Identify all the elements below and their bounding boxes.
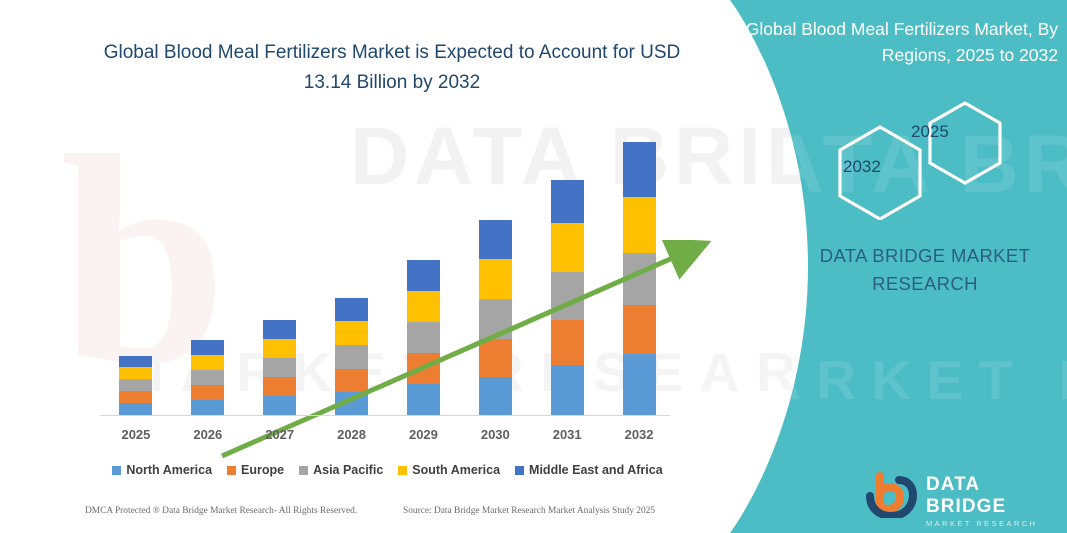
legend-item[interactable]: Europe — [227, 463, 284, 477]
stacked-bar — [407, 260, 440, 415]
panel-title: Global Blood Meal Fertilizers Market, By… — [740, 16, 1058, 68]
logo-subtitle: MARKET RESEARCH — [926, 518, 1056, 529]
x-axis-tick-label: 2025 — [101, 427, 171, 447]
bar-segment — [551, 180, 584, 223]
bar-segment — [119, 367, 152, 379]
bar-segment — [623, 354, 656, 415]
bar-segment — [623, 142, 656, 197]
x-axis-tick-label: 2027 — [245, 427, 315, 447]
legend-swatch-icon — [227, 466, 236, 475]
bar-segment — [407, 384, 440, 415]
logo-text: DATA BRIDGE MARKET RESEARCH — [926, 474, 1056, 529]
legend-label: Middle East and Africa — [529, 463, 663, 477]
bar-segment — [407, 260, 440, 291]
stacked-bar — [551, 180, 584, 415]
hexagon-2025-label: 2025 — [911, 122, 949, 142]
bar-segment — [335, 345, 368, 369]
infographic-canvas: b DATA BRIDGE MARKET RESEARCH Global Blo… — [0, 0, 1067, 533]
legend-item[interactable]: South America — [398, 463, 500, 477]
panel-brand-name: DATA BRIDGE MARKET RESEARCH — [780, 242, 1067, 298]
bar-segment — [263, 377, 296, 396]
footer: DMCA Protected ® Data Bridge Market Rese… — [0, 506, 690, 524]
bar-segment — [623, 305, 656, 354]
bar-segment — [551, 365, 584, 415]
stacked-bar — [335, 298, 368, 415]
hexagon-2032-label: 2032 — [843, 157, 881, 177]
bar-segment — [263, 358, 296, 377]
data-bridge-logo: DATA BRIDGE MARKET RESEARCH — [866, 472, 1056, 520]
x-axis-tick-label: 2026 — [173, 427, 243, 447]
stacked-bar-group — [100, 120, 675, 415]
bar-segment — [191, 340, 224, 355]
bar-segment — [623, 253, 656, 305]
bar-segment — [191, 370, 224, 385]
logo-mark-icon — [866, 472, 922, 518]
bar-segment — [479, 259, 512, 299]
footer-source: Source: Data Bridge Market Research Mark… — [403, 506, 655, 516]
legend-label: Asia Pacific — [313, 463, 383, 477]
stacked-bar — [119, 356, 152, 415]
bar-segment — [119, 403, 152, 415]
legend-label: Europe — [241, 463, 284, 477]
bar-segment — [335, 321, 368, 345]
bar-segment — [335, 298, 368, 321]
x-axis-tick-label: 2029 — [388, 427, 458, 447]
bar-segment — [551, 320, 584, 365]
x-axis-tick-label: 2032 — [604, 427, 674, 447]
legend-swatch-icon — [299, 466, 308, 475]
bar-segment — [191, 400, 224, 415]
chart-plot-area — [100, 120, 675, 416]
legend-swatch-icon — [112, 466, 121, 475]
logo-title: DATA BRIDGE — [926, 474, 1056, 518]
bar-segment — [407, 291, 440, 322]
bar-segment — [479, 377, 512, 415]
bar-segment — [191, 355, 224, 370]
stacked-bar — [479, 220, 512, 415]
legend-item[interactable]: Asia Pacific — [299, 463, 383, 477]
legend-item[interactable]: North America — [112, 463, 212, 477]
bar-segment — [551, 272, 584, 320]
bar-segment — [119, 391, 152, 403]
bar-segment — [335, 392, 368, 415]
bar-segment — [335, 369, 368, 392]
legend-swatch-icon — [515, 466, 524, 475]
chart-title: Global Blood Meal Fertilizers Market is … — [82, 38, 702, 98]
chart-legend: North AmericaEuropeAsia PacificSouth Ame… — [100, 460, 675, 480]
bar-segment — [191, 385, 224, 400]
bar-segment — [623, 197, 656, 253]
bar-segment — [407, 322, 440, 353]
bar-segment — [263, 320, 296, 339]
bar-segment — [479, 220, 512, 259]
bar-segment — [479, 339, 512, 377]
x-axis-tick-label: 2031 — [532, 427, 602, 447]
legend-item[interactable]: Middle East and Africa — [515, 463, 663, 477]
bar-segment — [119, 379, 152, 391]
hexagon-badges: 2025 2032 — [815, 95, 1030, 220]
stacked-bar — [263, 320, 296, 415]
chart-x-axis-labels: 20252026202720282029203020312032 — [100, 427, 675, 447]
stacked-bar — [623, 142, 656, 415]
hexagon-2025-shape — [930, 103, 1000, 183]
legend-label: North America — [126, 463, 212, 477]
bar-segment — [119, 356, 152, 367]
footer-copyright: DMCA Protected ® Data Bridge Market Rese… — [85, 506, 357, 516]
legend-swatch-icon — [398, 466, 407, 475]
bar-segment — [263, 396, 296, 415]
bar-segment — [551, 223, 584, 272]
stacked-bar — [191, 340, 224, 415]
chart-x-axis — [100, 415, 670, 416]
bar-segment — [407, 353, 440, 384]
x-axis-tick-label: 2030 — [460, 427, 530, 447]
bar-segment — [263, 339, 296, 358]
bar-segment — [479, 299, 512, 339]
x-axis-tick-label: 2028 — [317, 427, 387, 447]
panel-watermark-bottom: MARKET RESEARCH — [700, 348, 1067, 412]
legend-label: South America — [412, 463, 500, 477]
